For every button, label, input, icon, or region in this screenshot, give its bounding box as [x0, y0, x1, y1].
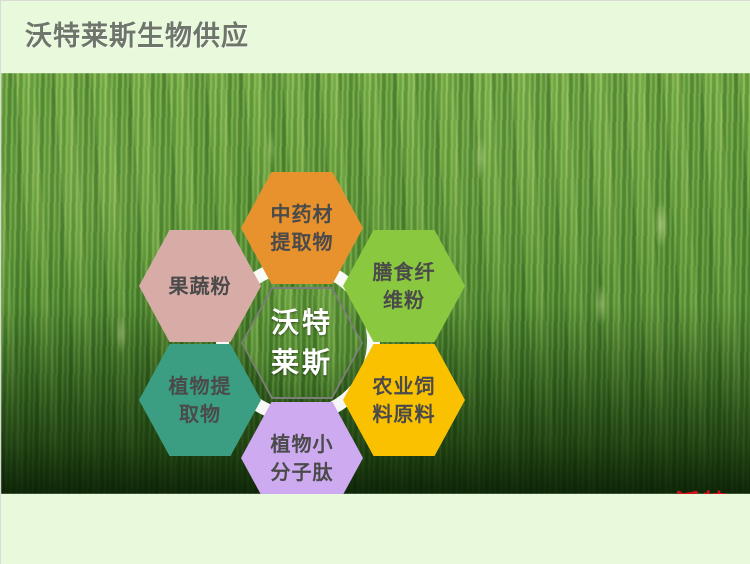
promo-card: 沃特莱斯生物供应 中药材 提取物 膳食纤 维粉 农业饲: [0, 0, 750, 564]
hexagon-center-brand[interactable]: 沃特 莱斯: [241, 287, 363, 399]
hexagon-label-line1: 果蔬粉: [169, 272, 232, 300]
brand-name-line2: 莱斯: [271, 343, 333, 383]
hexagon-label-line1: 植物提: [169, 372, 232, 400]
slide-root: 沃特莱斯生物供应 中药材 提取物 膳食纤 维粉 农业饲: [0, 0, 750, 564]
page-title: 沃特莱斯生物供应: [25, 21, 249, 53]
watermark-line1: 沃特: [675, 490, 729, 494]
hexagon-label-line2: 提取物: [271, 228, 334, 256]
hexagon-label-line2: 维粉: [383, 286, 425, 314]
hexagon-plant-peptide[interactable]: 植物小 分子肽: [241, 402, 363, 494]
brand-name-line1: 沃特: [271, 303, 333, 343]
footer-band: [1, 494, 750, 564]
hexagon-label-line1: 中药材: [271, 200, 334, 228]
brand-watermark: 沃特 莱斯: [675, 490, 729, 494]
hexagon-label-line2: 取物: [179, 400, 221, 428]
hexagon-label-line1: 膳食纤: [373, 258, 436, 286]
hexagon-label-line2: 料原料: [373, 400, 436, 428]
hexagon-label-line2: 分子肽: [271, 458, 334, 486]
hero-image-area: 中药材 提取物 膳食纤 维粉 农业饲 料原料 植物小 分子肽: [1, 73, 750, 494]
hexagon-cluster: 中药材 提取物 膳食纤 维粉 农业饲 料原料 植物小 分子肽: [131, 163, 471, 494]
header-band: 沃特莱斯生物供应: [1, 1, 750, 73]
hexagon-label-line1: 农业饲: [373, 372, 436, 400]
hexagon-label-line1: 植物小: [271, 430, 334, 458]
